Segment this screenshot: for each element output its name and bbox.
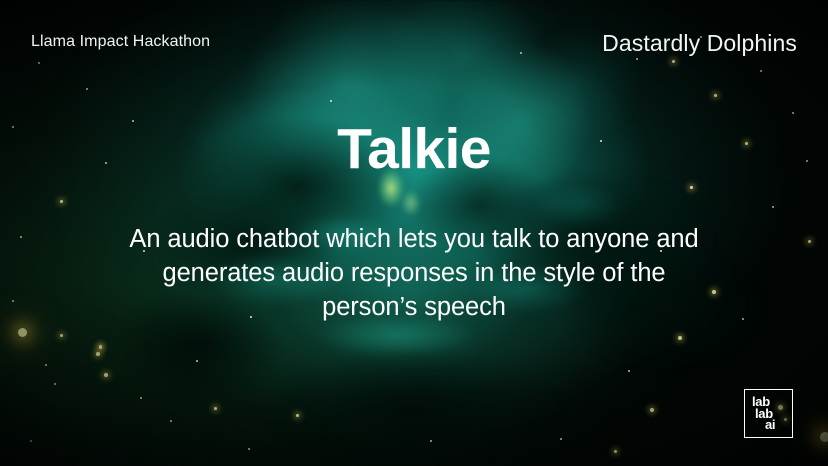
event-name-label: Llama Impact Hackathon <box>31 33 210 51</box>
project-description: An audio chatbot which lets you talk to … <box>113 222 715 324</box>
presentation-slide: Llama Impact Hackathon Dastardly Dolphin… <box>0 0 828 466</box>
team-name-label: Dastardly Dolphins <box>602 30 797 57</box>
slide-content: Llama Impact Hackathon Dastardly Dolphin… <box>0 0 828 466</box>
lablab-ai-logo-text: lab lab ai <box>752 396 775 431</box>
project-title: Talkie <box>0 121 828 178</box>
lablab-ai-logo: lab lab ai <box>744 389 793 438</box>
logo-line-3: ai <box>765 419 775 431</box>
